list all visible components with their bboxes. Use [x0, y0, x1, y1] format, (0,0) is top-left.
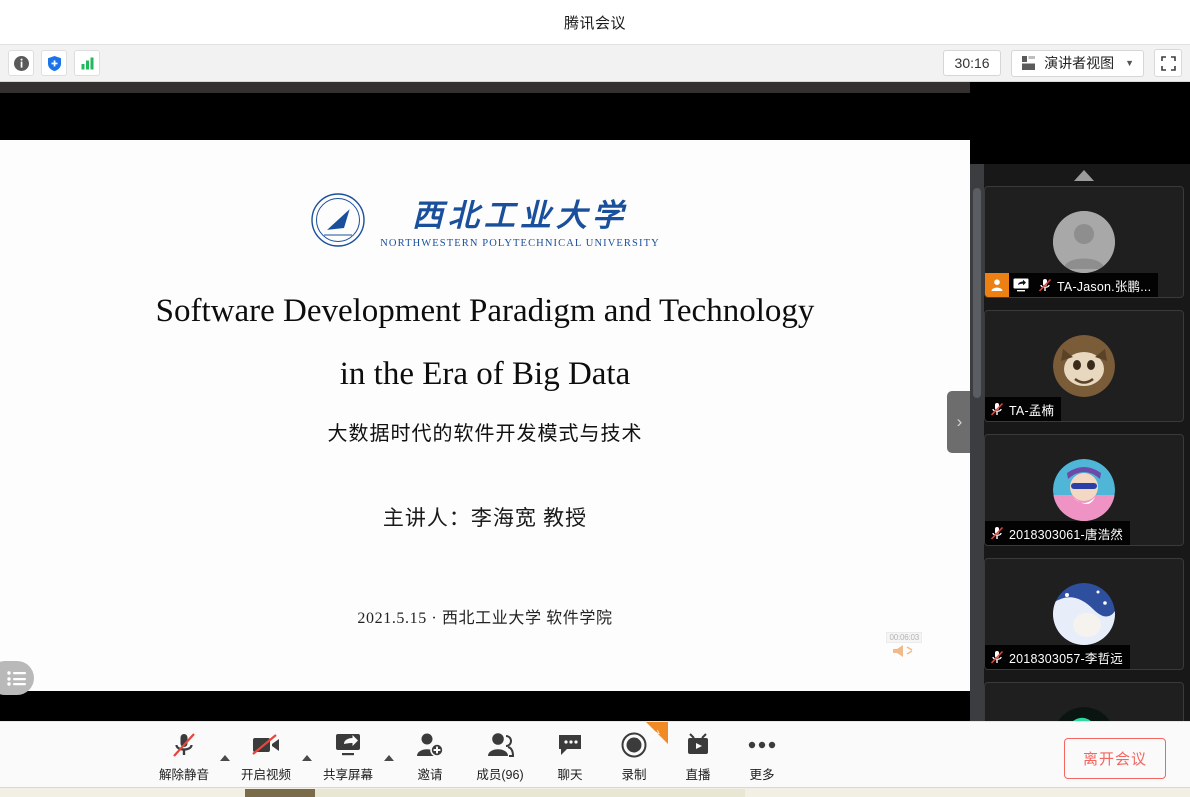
avatar	[1053, 459, 1115, 521]
control-label: 更多	[749, 764, 774, 783]
collapse-panel-button[interactable]: ›	[947, 391, 972, 453]
logo-chinese-name: 西北工业大学	[412, 190, 628, 235]
audio-timestamp: 00:06:03	[886, 632, 922, 643]
meeting-stage: 西北工业大学 NORTHWESTERN POLYTECHNICAL UNIVER…	[0, 82, 1190, 721]
share-list-button[interactable]	[0, 661, 34, 695]
control-label: 开启视频	[241, 764, 291, 783]
control-label: 成员(96)	[476, 764, 523, 783]
control-label: 直播	[685, 764, 710, 783]
avatar	[1053, 583, 1115, 645]
control-label: 解除静音	[159, 764, 209, 783]
participant-tile[interactable]: TA-Jason.张鹏...	[984, 186, 1184, 298]
avatar	[1053, 211, 1115, 273]
background-window-peek	[0, 787, 1190, 797]
info-icon[interactable]	[8, 50, 34, 76]
layout-view-icon	[1021, 55, 1037, 71]
participant-name: TA-Jason.张鹏...	[1057, 276, 1151, 295]
chat-bubble-icon	[557, 730, 583, 760]
presentation-slide: 西北工业大学 NORTHWESTERN POLYTECHNICAL UNIVER…	[0, 140, 970, 691]
live-broadcast-icon	[685, 730, 711, 760]
participant-label: TA-孟楠	[985, 397, 1061, 421]
peek-chunk-a	[245, 789, 315, 797]
control-label: 邀请	[417, 764, 442, 783]
participant-tile[interactable]: 2018303057-李哲远	[984, 558, 1184, 670]
participant-name: 2018303061-唐浩然	[1009, 524, 1123, 543]
meeting-timer: 30:16	[943, 50, 1001, 76]
participant-name: TA-孟楠	[1009, 400, 1054, 419]
university-logo: 西北工业大学 NORTHWESTERN POLYTECHNICAL UNIVER…	[0, 190, 970, 249]
participants-list: TA-Jason.张鹏... TA-孟楠	[978, 164, 1190, 797]
record-button[interactable]: 录制 new	[602, 726, 666, 783]
meeting-control-bar: 解除静音 开启视频 共享屏幕 邀请	[0, 721, 1190, 787]
mic-muted-icon	[985, 397, 1009, 421]
members-icon	[486, 730, 514, 760]
nwpu-seal-icon	[310, 192, 366, 248]
fullscreen-icon[interactable]	[1154, 49, 1182, 77]
start-video-button[interactable]: 开启视频	[234, 726, 298, 783]
speaker-icon	[891, 643, 917, 659]
participant-label: 2018303057-李哲远	[985, 645, 1130, 669]
share-top-strip	[0, 82, 970, 93]
shield-add-icon[interactable]	[41, 50, 67, 76]
chat-button[interactable]: 聊天	[538, 726, 602, 783]
unmute-button[interactable]: 解除静音	[152, 726, 216, 783]
share-screen-icon	[333, 730, 363, 760]
app-title: 腾讯会议	[564, 12, 626, 33]
participant-tile[interactable]: TA-孟楠	[984, 310, 1184, 422]
screen-share-icon	[1009, 273, 1033, 297]
camera-off-icon	[251, 730, 281, 760]
share-screen-button[interactable]: 共享屏幕	[316, 726, 380, 783]
participants-panel: TA-Jason.张鹏... TA-孟楠	[970, 164, 1190, 797]
mic-muted-icon	[985, 645, 1009, 669]
audio-options-arrow[interactable]	[216, 755, 234, 761]
toolbar-left-icons	[8, 50, 100, 76]
control-buttons: 解除静音 开启视频 共享屏幕 邀请	[152, 726, 794, 783]
slide-footer: 2021.5.15 · 西北工业大学 软件学院	[0, 604, 970, 628]
more-button[interactable]: 更多	[730, 726, 794, 783]
participant-tile[interactable]: 2018303061-唐浩然	[984, 434, 1184, 546]
chevron-down-icon: ▼	[1125, 58, 1134, 68]
signal-bars-icon[interactable]	[74, 50, 100, 76]
peek-chunk-b	[315, 789, 745, 797]
logo-text-block: 西北工业大学 NORTHWESTERN POLYTECHNICAL UNIVER…	[380, 190, 660, 249]
mic-muted-icon	[985, 521, 1009, 545]
chevron-right-icon: ›	[957, 412, 963, 432]
mic-muted-icon	[170, 730, 198, 760]
toolbar-right-group: 30:16 演讲者视图 ▼	[943, 49, 1182, 77]
slide-audio-stamp: 00:06:03	[886, 632, 922, 659]
scroll-up-arrow[interactable]	[978, 164, 1190, 186]
participant-name: 2018303057-李哲远	[1009, 648, 1123, 667]
more-dots-icon	[748, 730, 776, 760]
shared-screen-area[interactable]: 西北工业大学 NORTHWESTERN POLYTECHNICAL UNIVER…	[0, 93, 970, 709]
slide-presenter: 主讲人：李海宽 教授	[0, 502, 970, 532]
participant-label: TA-Jason.张鹏...	[985, 273, 1158, 297]
logo-english-name: NORTHWESTERN POLYTECHNICAL UNIVERSITY	[380, 238, 660, 249]
live-button[interactable]: 直播	[666, 726, 730, 783]
video-options-arrow[interactable]	[298, 755, 316, 761]
invite-person-icon	[416, 730, 444, 760]
host-badge-icon	[985, 273, 1009, 297]
mic-muted-icon	[1033, 273, 1057, 297]
slide-subtitle: 大数据时代的软件开发模式与技术	[0, 417, 970, 446]
slide-title-line-1: Software Development Paradigm and Techno…	[0, 281, 970, 342]
view-mode-dropdown[interactable]: 演讲者视图 ▼	[1011, 50, 1144, 77]
window-title-bar: 腾讯会议	[0, 0, 1190, 44]
list-icon	[6, 670, 28, 686]
tencent-meeting-window: 腾讯会议 30:16 演讲者视图 ▼	[0, 0, 1190, 797]
share-bottom-strip	[0, 709, 970, 721]
view-mode-label: 演讲者视图	[1044, 53, 1114, 73]
members-button[interactable]: 成员(96)	[462, 726, 538, 783]
share-options-arrow[interactable]	[380, 755, 398, 761]
leave-meeting-button[interactable]: 离开会议	[1064, 738, 1166, 779]
control-label: 录制	[621, 764, 646, 783]
meeting-toolbar: 30:16 演讲者视图 ▼	[0, 44, 1190, 82]
slide-title-line-2: in the Era of Big Data	[0, 344, 970, 405]
invite-button[interactable]: 邀请	[398, 726, 462, 783]
control-label: 聊天	[557, 764, 582, 783]
participant-label: 2018303061-唐浩然	[985, 521, 1130, 545]
avatar	[1053, 335, 1115, 397]
control-label: 共享屏幕	[323, 764, 373, 783]
